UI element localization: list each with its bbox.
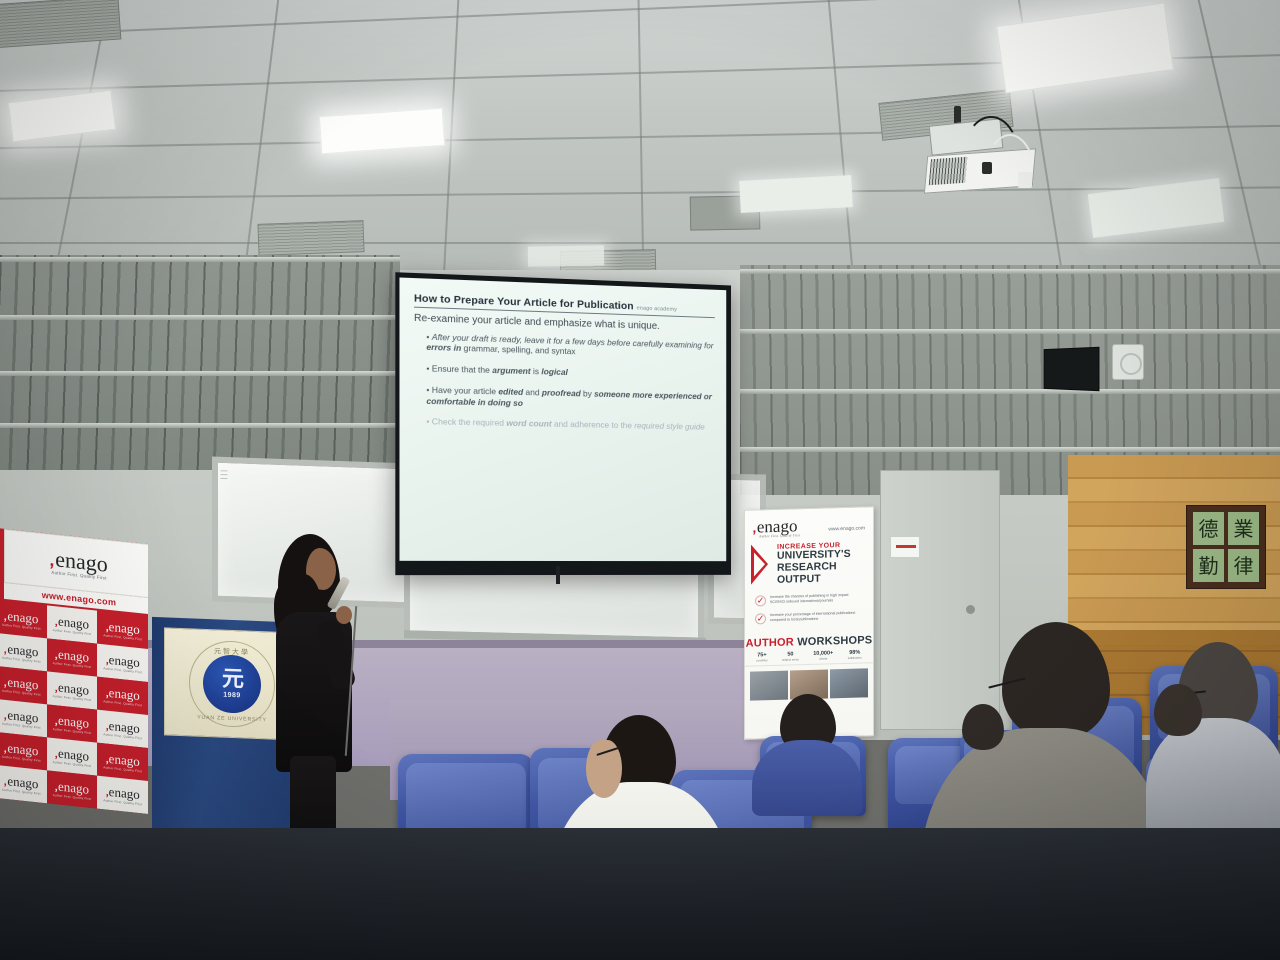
ceiling-light [739,175,853,213]
slide-bullet-run: required style guide [634,421,705,432]
calligraphy-plaque: 德 業 勤 律 [1186,505,1266,589]
slide-bullet-run: argument [492,365,530,376]
slide-bullet: • Ensure that the argument is logical [426,363,714,381]
slide-bullet: • After your draft is ready, leave it fo… [426,331,714,361]
audience-head [1154,684,1202,736]
slide-bullet-run: Ensure that the [432,363,492,375]
slide-bullet-run: Have your article [432,384,498,396]
slide-bullet-run: logical [541,366,567,377]
slide-bullet-run: errors in [426,342,461,353]
audience-shoulders [752,740,862,816]
left-curtain [0,255,400,470]
calligraphy-glyph: 德 [1193,512,1224,545]
wall-speaker [1044,347,1100,392]
slide-bullet-run: grammar, spelling, and syntax [461,343,575,356]
slide-bullet-run: Check the required [432,416,506,428]
slide-bullet-run: by [581,388,594,398]
rollup-url: www.enago.com [828,525,865,532]
projection-screen: How to Prepare Your Article for Publicat… [395,272,731,575]
whiteboard-side-label: ||| [220,470,227,530]
audience-head [962,704,1004,750]
ceiling-light [528,245,604,266]
lecture-hall-photo: 德 業 勤 律 ||| How to Prepare Your Article … [0,0,1280,960]
slide-bullet-run: and adherence to the [552,419,635,431]
audience-shoulders [1146,718,1280,838]
slide-bullet-run: is [531,366,542,376]
slide-bullet: • Check the required word count and adhe… [426,416,714,432]
chevron-right-icon [751,544,773,585]
door-sign [890,536,920,558]
wall-clock [1112,344,1144,380]
rollup-headline-block: INCREASE YOUR UNIVERSITY'S RESEARCH OUTP… [745,536,873,588]
calligraphy-glyph: 勤 [1193,549,1224,582]
slide-bullet-run: and [523,387,542,397]
ceiling-air-grille [257,220,364,256]
slide-bullet: • Have your article edited and proofread… [426,384,714,412]
slide-brand: enago academy [637,306,677,313]
rollup-headline-line2: RESEARCH OUTPUT [777,561,866,587]
rollup-header: ,enago Author First. Quality First www.e… [745,507,873,539]
slide-bullet-run: edited [498,386,523,397]
slide-title-text: How to Prepare Your Article for Publicat… [414,292,634,312]
slide-bullet-list: • After your draft is ready, leave it fo… [414,331,715,433]
calligraphy-glyph: 律 [1228,549,1259,582]
screen-bottom-bar [395,563,731,575]
calligraphy-glyph: 業 [1228,512,1259,545]
ceiling-projector [918,110,1048,196]
slide-bullet-run: proofread [542,387,581,398]
slide-bullet-run: word count [506,418,551,429]
floor [0,828,1280,960]
slide: How to Prepare Your Article for Publicat… [399,277,726,561]
screen-support-pole [556,566,560,584]
